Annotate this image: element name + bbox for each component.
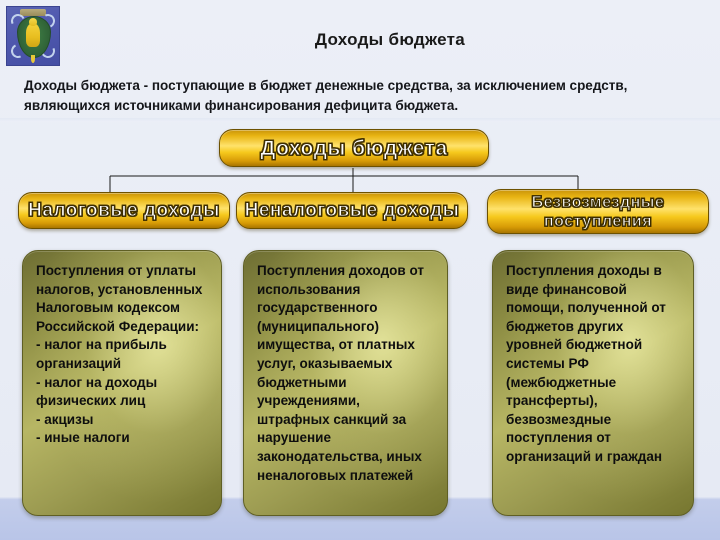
emblem-bear-figure xyxy=(26,23,40,47)
node-root-label: Доходы бюджета xyxy=(254,138,453,159)
node-nontax-revenue[interactable]: Неналоговые доходы xyxy=(236,192,468,229)
header-divider xyxy=(0,118,720,122)
page-title: Доходы бюджета xyxy=(70,30,710,50)
node-root[interactable]: Доходы бюджета xyxy=(219,129,489,167)
card-tax-revenue-text: Поступления от уплаты налогов, установле… xyxy=(36,262,208,448)
node-gratuitous-receipts-label: Безвозмездные поступления xyxy=(488,193,708,231)
definition-paragraph: Доходы бюджета - поступающие в бюджет де… xyxy=(24,76,702,116)
node-nontax-revenue-label: Неналоговые доходы xyxy=(239,200,466,221)
node-gratuitous-receipts[interactable]: Безвозмездные поступления xyxy=(487,189,709,234)
card-gratuitous-receipts-text: Поступления доходы в виде финансовой пом… xyxy=(506,262,680,467)
card-nontax-revenue: Поступления доходов от использования гос… xyxy=(243,250,448,516)
node-tax-revenue-label: Налоговые доходы xyxy=(22,200,226,221)
coat-of-arms-icon xyxy=(6,6,60,66)
card-gratuitous-receipts: Поступления доходы в виде финансовой пом… xyxy=(492,250,694,516)
node-tax-revenue[interactable]: Налоговые доходы xyxy=(18,192,230,229)
emblem-finial xyxy=(31,55,35,63)
card-nontax-revenue-text: Поступления доходов от использования гос… xyxy=(257,262,434,485)
card-tax-revenue: Поступления от уплаты налогов, установле… xyxy=(22,250,222,516)
